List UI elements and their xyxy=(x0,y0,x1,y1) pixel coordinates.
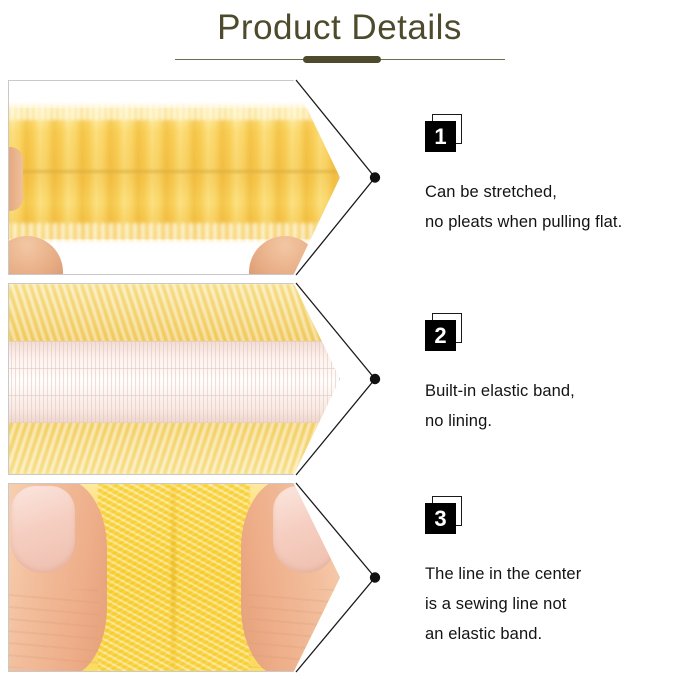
detail-3-line-3: an elastic band. xyxy=(425,619,675,649)
step-badge-2-number: 2 xyxy=(425,320,456,351)
detail-3-line-1: The line in the center xyxy=(425,559,675,589)
detail-3-text: The line in the center is a sewing line … xyxy=(425,559,675,649)
detail-3-line-2: is a sewing line not xyxy=(425,589,675,619)
detail-item-1: 1 Can be stretched, no pleats when pulli… xyxy=(425,121,675,237)
photo-2-clip xyxy=(8,283,340,475)
product-photo-1 xyxy=(8,80,340,275)
detail-2-text: Built-in elastic band, no lining. xyxy=(425,376,675,436)
step-badge-3: 3 xyxy=(425,503,463,541)
photo-3-clip xyxy=(8,483,340,672)
step-badge-2: 2 xyxy=(425,320,463,358)
detail-1-text: Can be stretched, no pleats when pulling… xyxy=(425,177,675,237)
photo-1-clip xyxy=(8,80,340,275)
product-photo-3 xyxy=(8,483,340,672)
detail-item-3: 3 The line in the center is a sewing lin… xyxy=(425,503,675,649)
detail-1-line-2: no pleats when pulling flat. xyxy=(425,207,675,237)
divider-knob xyxy=(303,56,381,63)
step-badge-3-number: 3 xyxy=(425,503,456,534)
step-badge-1-number: 1 xyxy=(425,121,456,152)
header: Product Details xyxy=(0,0,679,72)
detail-item-2: 2 Built-in elastic band, no lining. xyxy=(425,320,675,436)
page-title: Product Details xyxy=(0,6,679,50)
detail-2-line-2: no lining. xyxy=(425,406,675,436)
title-divider xyxy=(175,56,505,64)
product-photo-2 xyxy=(8,283,340,475)
photo-3-artwork xyxy=(9,484,339,671)
detail-2-line-1: Built-in elastic band, xyxy=(425,376,675,406)
detail-1-line-1: Can be stretched, xyxy=(425,177,675,207)
photo-2-artwork xyxy=(9,284,339,474)
photo-1-artwork xyxy=(9,81,339,274)
step-badge-1: 1 xyxy=(425,121,463,159)
